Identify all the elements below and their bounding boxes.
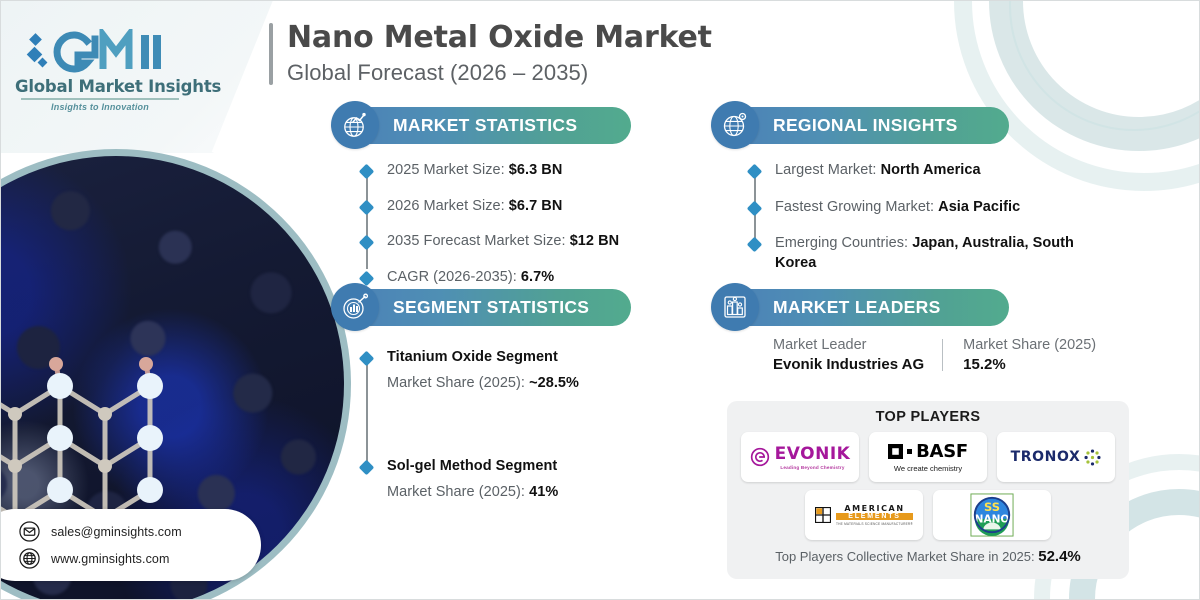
top-players-footer-value: 52.4%	[1038, 548, 1081, 565]
list-connector-line	[366, 169, 368, 269]
market-leader-value: Evonik Industries AG	[773, 356, 924, 373]
stat-text: 2025 Market Size: $6.3 BN	[387, 161, 562, 181]
title-accent-bar	[269, 23, 273, 85]
gmi-logo-divider	[21, 98, 179, 100]
stat-text: CAGR (2026-2035): 6.7%	[387, 268, 554, 288]
region-text: Largest Market: North America	[775, 161, 981, 181]
gmi-logo-tagline: Insights to Innovation	[15, 102, 185, 112]
basf-tagline: We create chemistry	[888, 464, 968, 473]
list-item: Titanium Oxide Segment Market Share (202…	[361, 348, 651, 393]
list-item: 2025 Market Size: $6.3 BN	[361, 161, 651, 181]
logo-card-basf[interactable]: BASF We create chemistry	[869, 432, 987, 482]
american-elements-subword: ELEMENTS	[836, 513, 913, 520]
basf-mark-icon	[888, 444, 903, 459]
segment-title: Sol-gel Method Segment	[387, 457, 558, 477]
top-players-row-1: EVONIK Leading Beyond Chemistry BASF We …	[739, 432, 1117, 482]
logo-card-tronox[interactable]: TRONOX	[997, 432, 1115, 482]
section-label-market-statistics: MARKET STATISTICS	[393, 115, 577, 136]
bullet-diamond-icon	[359, 199, 375, 215]
segment-share: Market Share (2025): 41%	[387, 483, 558, 503]
contact-website-text: www.gminsights.com	[51, 552, 170, 566]
svg-text:SS: SS	[984, 500, 1000, 514]
podium-icon	[711, 283, 759, 331]
american-elements-fineprint: THE MATERIALS SCIENCE MANUFACTURER®	[836, 522, 913, 526]
section-header-market-statistics: MARKET STATISTICS	[337, 107, 631, 144]
globe-icon	[19, 548, 40, 569]
market-leader-column: Market Leader Evonik Industries AG	[773, 337, 924, 373]
tronox-wordmark: TRONOX	[1011, 449, 1081, 465]
list-regional-insights: Largest Market: North America Fastest Gr…	[749, 161, 1109, 273]
list-item: CAGR (2026-2035): 6.7%	[361, 268, 651, 288]
market-share-caption: Market Share (2025)	[963, 337, 1096, 353]
gmi-logo-name: Global Market Insights	[15, 77, 185, 96]
contact-email-text: sales@gminsights.com	[51, 525, 182, 539]
evonik-mark-icon	[750, 447, 770, 467]
top-players-title: TOP PLAYERS	[739, 409, 1117, 425]
contact-card: sales@gminsights.com www.gminsights.com	[0, 509, 261, 581]
top-players-footer-label: Top Players Collective Market Share in 2…	[775, 549, 1038, 564]
page-title: Nano Metal Oxide Market	[287, 19, 712, 57]
bullet-diamond-icon	[359, 351, 375, 367]
contact-website-row[interactable]: www.gminsights.com	[19, 545, 261, 572]
section-header-segment-statistics: SEGMENT STATISTICS	[337, 289, 631, 326]
section-label-market-leaders: MARKET LEADERS	[773, 297, 941, 318]
list-item: 2035 Forecast Market Size: $12 BN	[361, 232, 651, 252]
market-leaders-divider	[942, 339, 943, 371]
svg-text:NANO: NANO	[975, 514, 1010, 526]
list-segment-statistics: Titanium Oxide Segment Market Share (202…	[361, 348, 651, 502]
envelope-icon	[19, 521, 40, 542]
globe-chart-icon	[331, 101, 379, 149]
logo-card-american-elements[interactable]: AMERICAN ELEMENTS THE MATERIALS SCIENCE …	[805, 490, 923, 540]
bullet-diamond-icon	[747, 237, 763, 253]
bullet-diamond-icon	[747, 200, 763, 216]
segment-title: Titanium Oxide Segment	[387, 348, 579, 368]
list-item: Fastest Growing Market: Asia Pacific	[749, 198, 1109, 218]
market-share-column: Market Share (2025) 15.2%	[963, 337, 1096, 373]
ss-nano-mark-icon: SS NANO	[970, 493, 1014, 537]
basf-wordmark: BASF	[916, 441, 968, 462]
basf-dot-icon	[907, 449, 912, 454]
section-header-market-leaders: MARKET LEADERS	[717, 289, 1009, 326]
evonik-wordmark: EVONIK	[775, 444, 851, 464]
list-item: Emerging Countries: Japan, Australia, So…	[749, 234, 1109, 273]
logo-card-evonik[interactable]: EVONIK Leading Beyond Chemistry	[741, 432, 859, 482]
logo-card-ss-nano[interactable]: SS NANO	[933, 490, 1051, 540]
market-leader-caption: Market Leader	[773, 337, 924, 353]
globe-pin-icon	[711, 101, 759, 149]
page-subtitle: Global Forecast (2026 – 2035)	[287, 60, 712, 86]
page-title-block: Nano Metal Oxide Market Global Forecast …	[269, 19, 712, 86]
market-leaders-values: Market Leader Evonik Industries AG Marke…	[773, 337, 1096, 373]
bullet-diamond-icon	[359, 164, 375, 180]
region-text: Emerging Countries: Japan, Australia, So…	[775, 234, 1075, 273]
list-item: 2026 Market Size: $6.7 BN	[361, 197, 651, 217]
top-players-panel: TOP PLAYERS EVONIK Leading Beyond Chemis…	[727, 401, 1129, 579]
segment-block: Titanium Oxide Segment Market Share (202…	[387, 348, 579, 393]
bullet-diamond-icon	[359, 235, 375, 251]
list-market-statistics: 2025 Market Size: $6.3 BN 2026 Market Si…	[361, 161, 651, 287]
infographic-canvas: Global Market Insights Insights to Innov…	[0, 0, 1200, 600]
evonik-tagline: Leading Beyond Chemistry	[775, 465, 851, 470]
gmi-logo: Global Market Insights Insights to Innov…	[15, 29, 185, 111]
stat-text: 2026 Market Size: $6.7 BN	[387, 197, 562, 217]
section-label-regional-insights: REGIONAL INSIGHTS	[773, 115, 958, 136]
stat-text: 2035 Forecast Market Size: $12 BN	[387, 232, 619, 252]
section-label-segment-statistics: SEGMENT STATISTICS	[393, 297, 589, 318]
region-text: Fastest Growing Market: Asia Pacific	[775, 198, 1020, 218]
top-players-row-2: AMERICAN ELEMENTS THE MATERIALS SCIENCE …	[739, 490, 1117, 540]
top-players-footer: Top Players Collective Market Share in 2…	[739, 548, 1117, 565]
contact-email-row[interactable]: sales@gminsights.com	[19, 518, 261, 545]
tronox-mark-icon	[1084, 449, 1101, 466]
american-elements-wordmark: AMERICAN	[836, 504, 913, 513]
segment-block: Sol-gel Method Segment Market Share (202…	[387, 457, 558, 502]
target-chart-icon	[331, 283, 379, 331]
list-item: Largest Market: North America	[749, 161, 1109, 181]
bullet-diamond-icon	[359, 460, 375, 476]
gmi-monogram-icon	[25, 29, 175, 75]
market-share-value: 15.2%	[963, 356, 1096, 373]
segment-share: Market Share (2025): ~28.5%	[387, 374, 579, 394]
section-header-regional-insights: REGIONAL INSIGHTS	[717, 107, 1009, 144]
bullet-diamond-icon	[747, 164, 763, 180]
american-elements-mark-icon	[815, 507, 831, 523]
list-item: Sol-gel Method Segment Market Share (202…	[361, 457, 651, 502]
